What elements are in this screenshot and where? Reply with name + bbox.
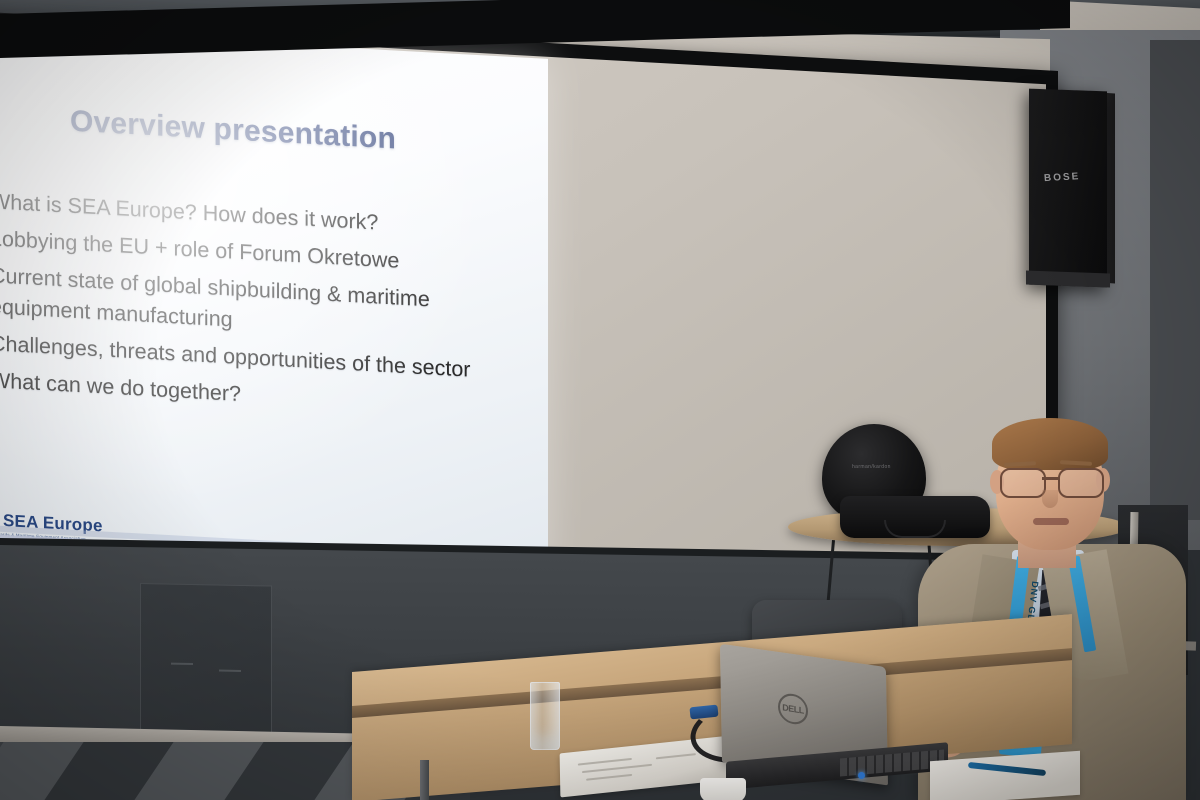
presentation-room-photo: Overview presentation What is SEA Europe… — [0, 0, 1200, 800]
harman-kardon-brand-label: harman/kardon — [852, 464, 891, 470]
mouth — [1033, 518, 1069, 525]
coffee-cup — [700, 778, 746, 800]
drinking-glass — [530, 682, 560, 750]
conference-table-leg — [420, 760, 429, 800]
wall-panel — [140, 583, 272, 743]
nose — [1042, 490, 1058, 508]
projected-slide: Overview presentation What is SEA Europe… — [0, 28, 548, 575]
bose-brand-label: BOSE — [1044, 171, 1087, 184]
slide-title: Overview presentation — [70, 105, 396, 157]
lens-left — [1000, 468, 1046, 498]
slide-bullet-list: What is SEA Europe? How does it work? Lo… — [0, 186, 510, 430]
lens-right — [1058, 468, 1104, 498]
bose-mount-bracket — [1026, 271, 1110, 288]
laptop-power-led — [858, 772, 865, 779]
glasses-bridge — [1042, 477, 1060, 480]
bose-speaker — [1029, 89, 1107, 288]
